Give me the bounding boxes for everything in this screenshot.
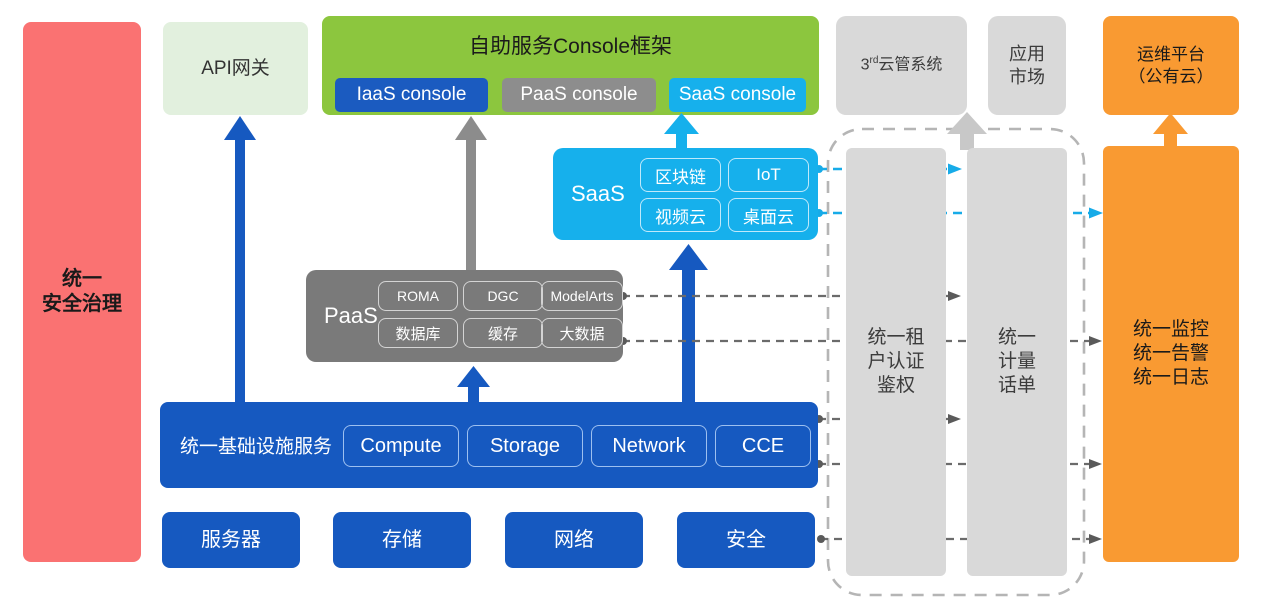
- arrow-paas-to-console: [455, 116, 487, 274]
- saas-console-chip[interactable]: SaaS console: [669, 78, 806, 112]
- saas-console-label: SaaS console: [679, 84, 796, 106]
- iaas-service-cce-label: CCE: [742, 435, 784, 458]
- application-market-block: 应用 市场: [988, 16, 1066, 115]
- ops-platform-public-cloud-block: 运维平台 （公有云）: [1103, 16, 1239, 115]
- ops-platform-monitoring-block: 统一监控 统一告警 统一日志: [1103, 146, 1239, 562]
- resource-box-storage[interactable]: 存储: [333, 512, 471, 568]
- iaas-console-label: IaaS console: [357, 84, 467, 106]
- resource-box-network-label: 网络: [554, 528, 594, 553]
- unified-security-governance-block: 统一 安全治理: [23, 22, 141, 562]
- paas-block: PaaS ROMA DGC ModelArts 数据库 缓存 大数据: [306, 270, 623, 362]
- third-party-cloud-management-block: 3rd云管系统: [836, 16, 967, 115]
- resource-box-network[interactable]: 网络: [505, 512, 643, 568]
- resource-box-storage-label: 存储: [382, 528, 422, 553]
- arrow-iaas-to-saas: [669, 244, 708, 411]
- paas-service-bigdata[interactable]: 大数据: [541, 318, 623, 348]
- arrow-to-third-party-cloud: [947, 112, 987, 150]
- saas-service-desktop-cloud[interactable]: 桌面云: [728, 198, 809, 232]
- unified-security-governance-label: 统一 安全治理: [42, 267, 122, 317]
- unified-billing-label: 统一 计量 话单: [998, 326, 1036, 397]
- paas-service-modelarts[interactable]: ModelArts: [541, 281, 623, 311]
- architecture-diagram: 统一 安全治理 API网关 自助服务Console框架 IaaS console…: [0, 0, 1265, 605]
- saas-service-video-cloud-label: 视频云: [655, 203, 706, 228]
- application-market-label: 应用 市场: [1009, 43, 1045, 88]
- paas-console-label: PaaS console: [520, 84, 637, 106]
- resource-box-server-label: 服务器: [201, 528, 261, 553]
- paas-service-database-label: 数据库: [395, 323, 440, 344]
- paas-service-bigdata-label: 大数据: [559, 323, 604, 344]
- arrow-iaas-to-api-gateway: [224, 116, 256, 414]
- saas-service-video-cloud[interactable]: 视频云: [640, 198, 721, 232]
- paas-service-dgc-label: DGC: [487, 288, 518, 304]
- unified-infrastructure-service-block: 统一基础设施服务 Compute Storage Network CCE: [160, 402, 818, 488]
- paas-service-database[interactable]: 数据库: [378, 318, 458, 348]
- paas-service-roma[interactable]: ROMA: [378, 281, 458, 311]
- paas-console-chip[interactable]: PaaS console: [502, 78, 656, 112]
- api-gateway-block: API网关: [163, 22, 308, 115]
- iaas-service-storage-label: Storage: [490, 435, 560, 458]
- resource-box-security-label: 安全: [726, 528, 766, 553]
- saas-service-blockchain-label: 区块链: [655, 163, 706, 188]
- iaas-service-network-label: Network: [612, 435, 685, 458]
- paas-service-cache[interactable]: 缓存: [463, 318, 543, 348]
- paas-service-dgc[interactable]: DGC: [463, 281, 543, 311]
- unified-tenant-auth-label: 统一租 户认证 鉴权: [867, 326, 924, 397]
- iaas-console-chip[interactable]: IaaS console: [335, 78, 488, 112]
- resource-box-security[interactable]: 安全: [677, 512, 815, 568]
- saas-block: SaaS 区块链 IoT 视频云 桌面云: [553, 148, 818, 240]
- arrow-saas-to-saas-console: [664, 113, 699, 152]
- arrow-to-ops-platform: [1153, 113, 1188, 148]
- unified-billing-block: 统一 计量 话单: [967, 148, 1067, 576]
- self-service-console-framework: 自助服务Console框架 IaaS console PaaS console …: [322, 16, 819, 115]
- iaas-service-compute-label: Compute: [360, 435, 441, 458]
- saas-service-iot[interactable]: IoT: [728, 158, 809, 192]
- iaas-service-storage[interactable]: Storage: [467, 425, 583, 467]
- saas-label: SaaS: [571, 181, 625, 207]
- unified-infrastructure-service-label: 统一基础设施服务: [180, 432, 332, 459]
- unified-tenant-auth-block: 统一租 户认证 鉴权: [846, 148, 946, 576]
- paas-service-roma-label: ROMA: [397, 288, 439, 304]
- iaas-service-network[interactable]: Network: [591, 425, 707, 467]
- saas-service-blockchain[interactable]: 区块链: [640, 158, 721, 192]
- api-gateway-label: API网关: [201, 57, 270, 81]
- saas-service-iot-label: IoT: [756, 165, 781, 185]
- iaas-service-cce[interactable]: CCE: [715, 425, 811, 467]
- ops-platform-monitoring-label: 统一监控 统一告警 统一日志: [1133, 318, 1209, 389]
- saas-service-desktop-cloud-label: 桌面云: [743, 203, 794, 228]
- iaas-service-compute[interactable]: Compute: [343, 425, 459, 467]
- paas-label: PaaS: [324, 303, 378, 329]
- resource-box-server[interactable]: 服务器: [162, 512, 300, 568]
- ops-platform-public-cloud-label: 运维平台 （公有云）: [1129, 44, 1214, 87]
- console-framework-title: 自助服务Console框架: [322, 30, 819, 60]
- third-party-cloud-management-label: 3rd云管系统: [861, 55, 943, 75]
- paas-service-modelarts-label: ModelArts: [550, 288, 613, 304]
- paas-service-cache-label: 缓存: [488, 323, 518, 344]
